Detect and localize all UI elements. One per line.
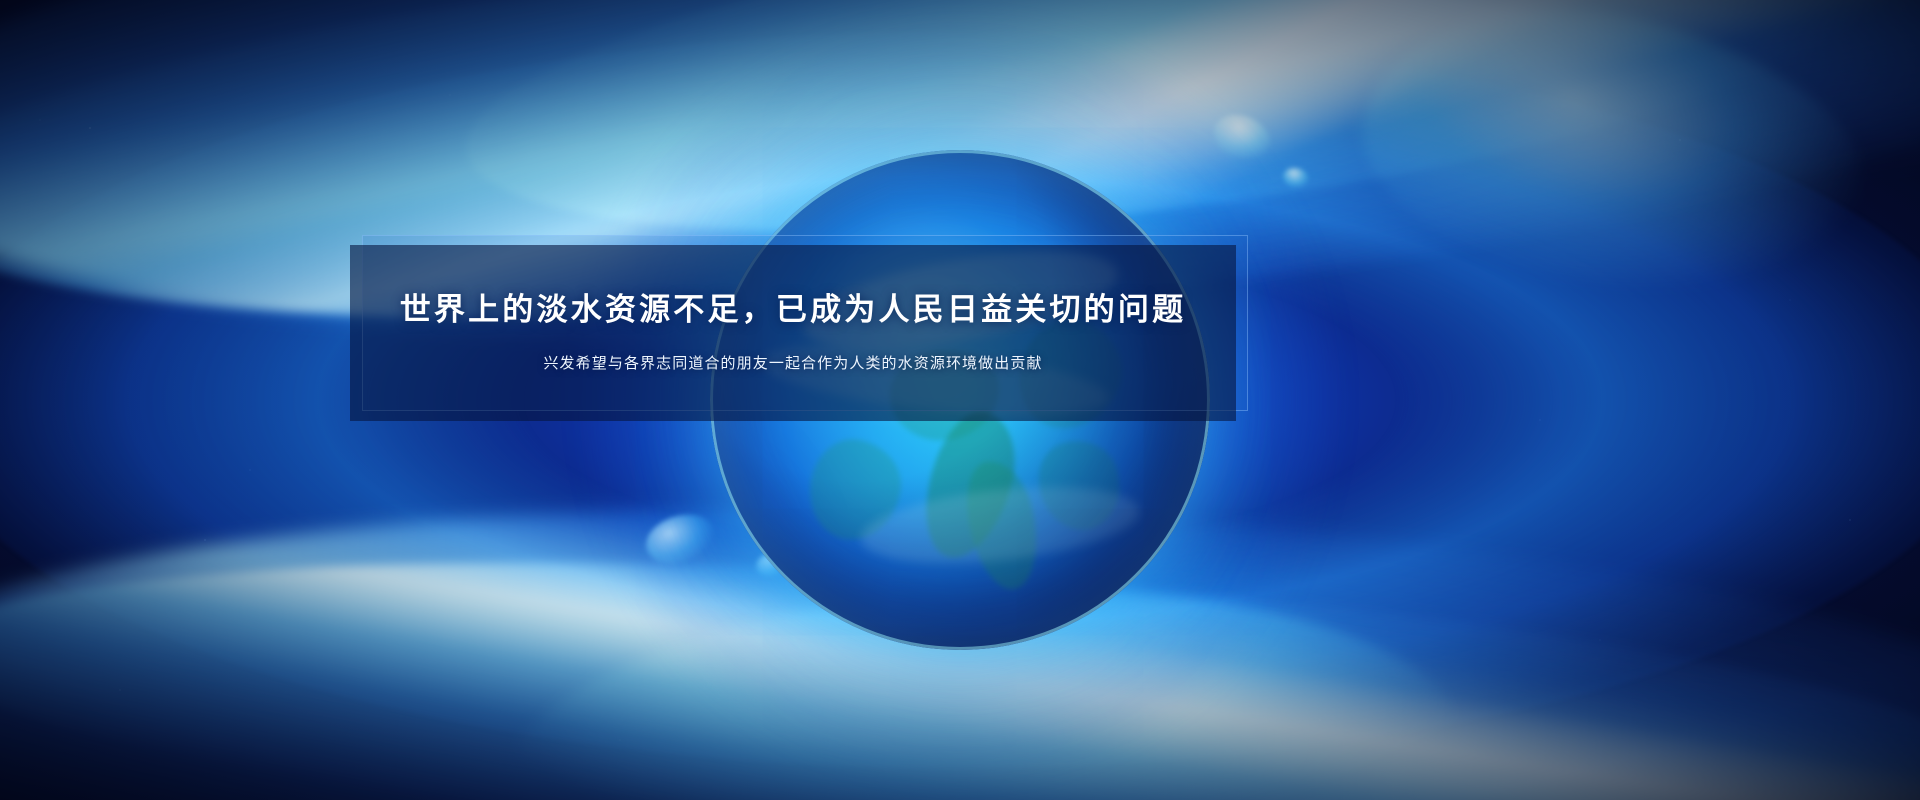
hero-subheadline: 兴发希望与各界志同道合的朋友一起合作为人类的水资源环境做出贡献 bbox=[543, 353, 1042, 374]
hero-banner: 世界上的淡水资源不足，已成为人民日益关切的问题 兴发希望与各界志同道合的朋友一起… bbox=[0, 0, 1920, 800]
hero-text-panel: 世界上的淡水资源不足，已成为人民日益关切的问题 兴发希望与各界志同道合的朋友一起… bbox=[350, 245, 1236, 421]
hero-headline: 世界上的淡水资源不足，已成为人民日益关切的问题 bbox=[400, 292, 1187, 329]
panel-text-group: 世界上的淡水资源不足，已成为人民日益关切的问题 兴发希望与各界志同道合的朋友一起… bbox=[350, 245, 1236, 421]
